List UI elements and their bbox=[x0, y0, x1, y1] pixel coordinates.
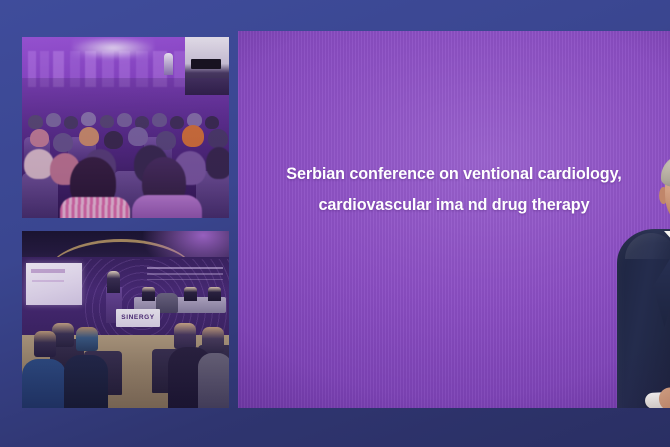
audience-stage-presenter bbox=[164, 53, 173, 75]
audience-person-top bbox=[132, 195, 202, 218]
attendee bbox=[64, 355, 108, 408]
audience-head bbox=[100, 115, 114, 128]
panelist bbox=[208, 287, 221, 301]
audience-head bbox=[28, 115, 43, 129]
audience-photo bbox=[22, 37, 229, 218]
audience-head bbox=[46, 113, 61, 127]
sinergy-sign: SINERGY bbox=[116, 309, 160, 327]
attendee bbox=[22, 359, 66, 408]
attendee bbox=[198, 353, 229, 408]
panel-session-photo: SINERGY bbox=[22, 231, 229, 408]
panelist bbox=[184, 287, 197, 301]
audience-head bbox=[208, 129, 228, 148]
audience-head bbox=[64, 116, 78, 129]
audience-head bbox=[79, 127, 99, 146]
audience-head bbox=[170, 116, 184, 129]
audience-head bbox=[206, 147, 229, 179]
sinergy-sign-label: SINERGY bbox=[121, 315, 154, 322]
audience-head bbox=[152, 113, 167, 127]
podium-presenter bbox=[107, 271, 120, 293]
stage-vignette bbox=[238, 31, 670, 408]
attendee bbox=[202, 327, 224, 353]
audience-striped-top bbox=[60, 197, 130, 218]
audience-head bbox=[128, 127, 148, 146]
audience-head bbox=[117, 113, 132, 127]
attendee bbox=[34, 331, 56, 357]
panel-wall-text bbox=[147, 267, 223, 289]
audience-head bbox=[104, 131, 123, 149]
audience-head bbox=[182, 125, 204, 147]
panelist bbox=[142, 287, 155, 301]
audience-screen-glow bbox=[72, 37, 154, 59]
audience-head bbox=[53, 133, 73, 152]
audience-head bbox=[81, 112, 96, 126]
conference-stage-photo: Serbian conference on ventional cardiolo… bbox=[238, 31, 670, 408]
audience-head bbox=[205, 116, 219, 129]
attendee bbox=[76, 327, 98, 351]
presentation-screen bbox=[26, 263, 82, 305]
attendee bbox=[174, 323, 196, 349]
audience-head bbox=[30, 129, 49, 147]
screenshot-canvas: Serbian conference on ventional cardiolo… bbox=[0, 0, 670, 447]
